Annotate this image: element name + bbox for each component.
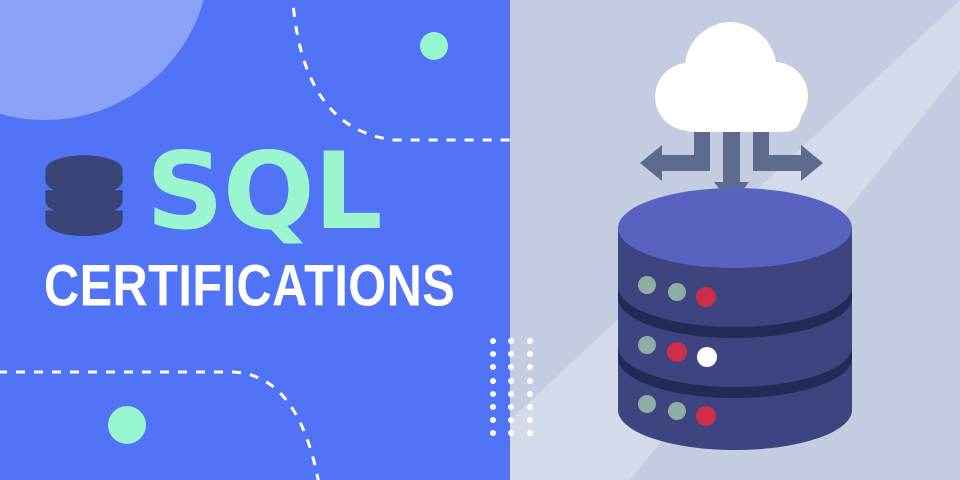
- led-green: [668, 402, 686, 420]
- grid-dot: [490, 378, 496, 384]
- grid-dot: [527, 391, 533, 397]
- grid-dot: [490, 364, 496, 370]
- grid-dot: [490, 430, 496, 436]
- database-server-illustration: [618, 188, 852, 450]
- grid-dot: [490, 351, 496, 357]
- sql-certifications-banner: SQL CERTIFICATIONS: [0, 0, 960, 480]
- arrow-right-head: [801, 145, 823, 181]
- grid-dot: [527, 338, 533, 344]
- dashed-curve-top: [292, 0, 510, 140]
- logo-secondary-text: CERTIFICATIONS: [44, 256, 422, 315]
- dashed-curve-bottom: [0, 372, 320, 480]
- logo-block: SQL CERTIFICATIONS: [38, 138, 478, 312]
- cloud-icon: [655, 22, 808, 132]
- grid-dot: [527, 430, 533, 436]
- logo-primary-text: SQL: [146, 143, 382, 241]
- accent-dot-bottom: [108, 406, 146, 444]
- grid-dot: [508, 378, 514, 384]
- grid-dot: [527, 417, 533, 423]
- led-green: [638, 276, 656, 294]
- led-red: [667, 342, 687, 362]
- right-panel: [510, 0, 960, 480]
- grid-dot: [527, 364, 533, 370]
- led-white: [697, 347, 717, 367]
- grid-dot: [508, 351, 514, 357]
- grid-dot: [508, 404, 514, 410]
- database-stack-icon: [38, 146, 130, 238]
- arrow-right-shaft: [753, 155, 805, 171]
- logo-row: SQL: [38, 138, 478, 246]
- grid-dot: [508, 364, 514, 370]
- accent-dot-top: [420, 32, 448, 60]
- grid-dot: [490, 417, 496, 423]
- grid-dot: [508, 417, 514, 423]
- led-green: [638, 336, 656, 354]
- grid-dot: [508, 391, 514, 397]
- grid-dot: [508, 430, 514, 436]
- led-red: [696, 406, 716, 426]
- led-green: [668, 283, 686, 301]
- dot-grid-decoration: [490, 338, 536, 444]
- left-panel: SQL CERTIFICATIONS: [0, 0, 510, 480]
- grid-dot: [490, 391, 496, 397]
- grid-dot: [490, 404, 496, 410]
- grid-dot: [527, 378, 533, 384]
- database-top-disc: [618, 188, 852, 268]
- grid-dot: [527, 351, 533, 357]
- arrow-left-shaft: [658, 155, 710, 171]
- led-green: [638, 395, 656, 413]
- led-red: [696, 287, 716, 307]
- arrow-left-head: [640, 145, 662, 181]
- grid-dot: [508, 338, 514, 344]
- grid-dot: [490, 338, 496, 344]
- cloud-database-illustration: [510, 0, 960, 480]
- grid-dot: [527, 404, 533, 410]
